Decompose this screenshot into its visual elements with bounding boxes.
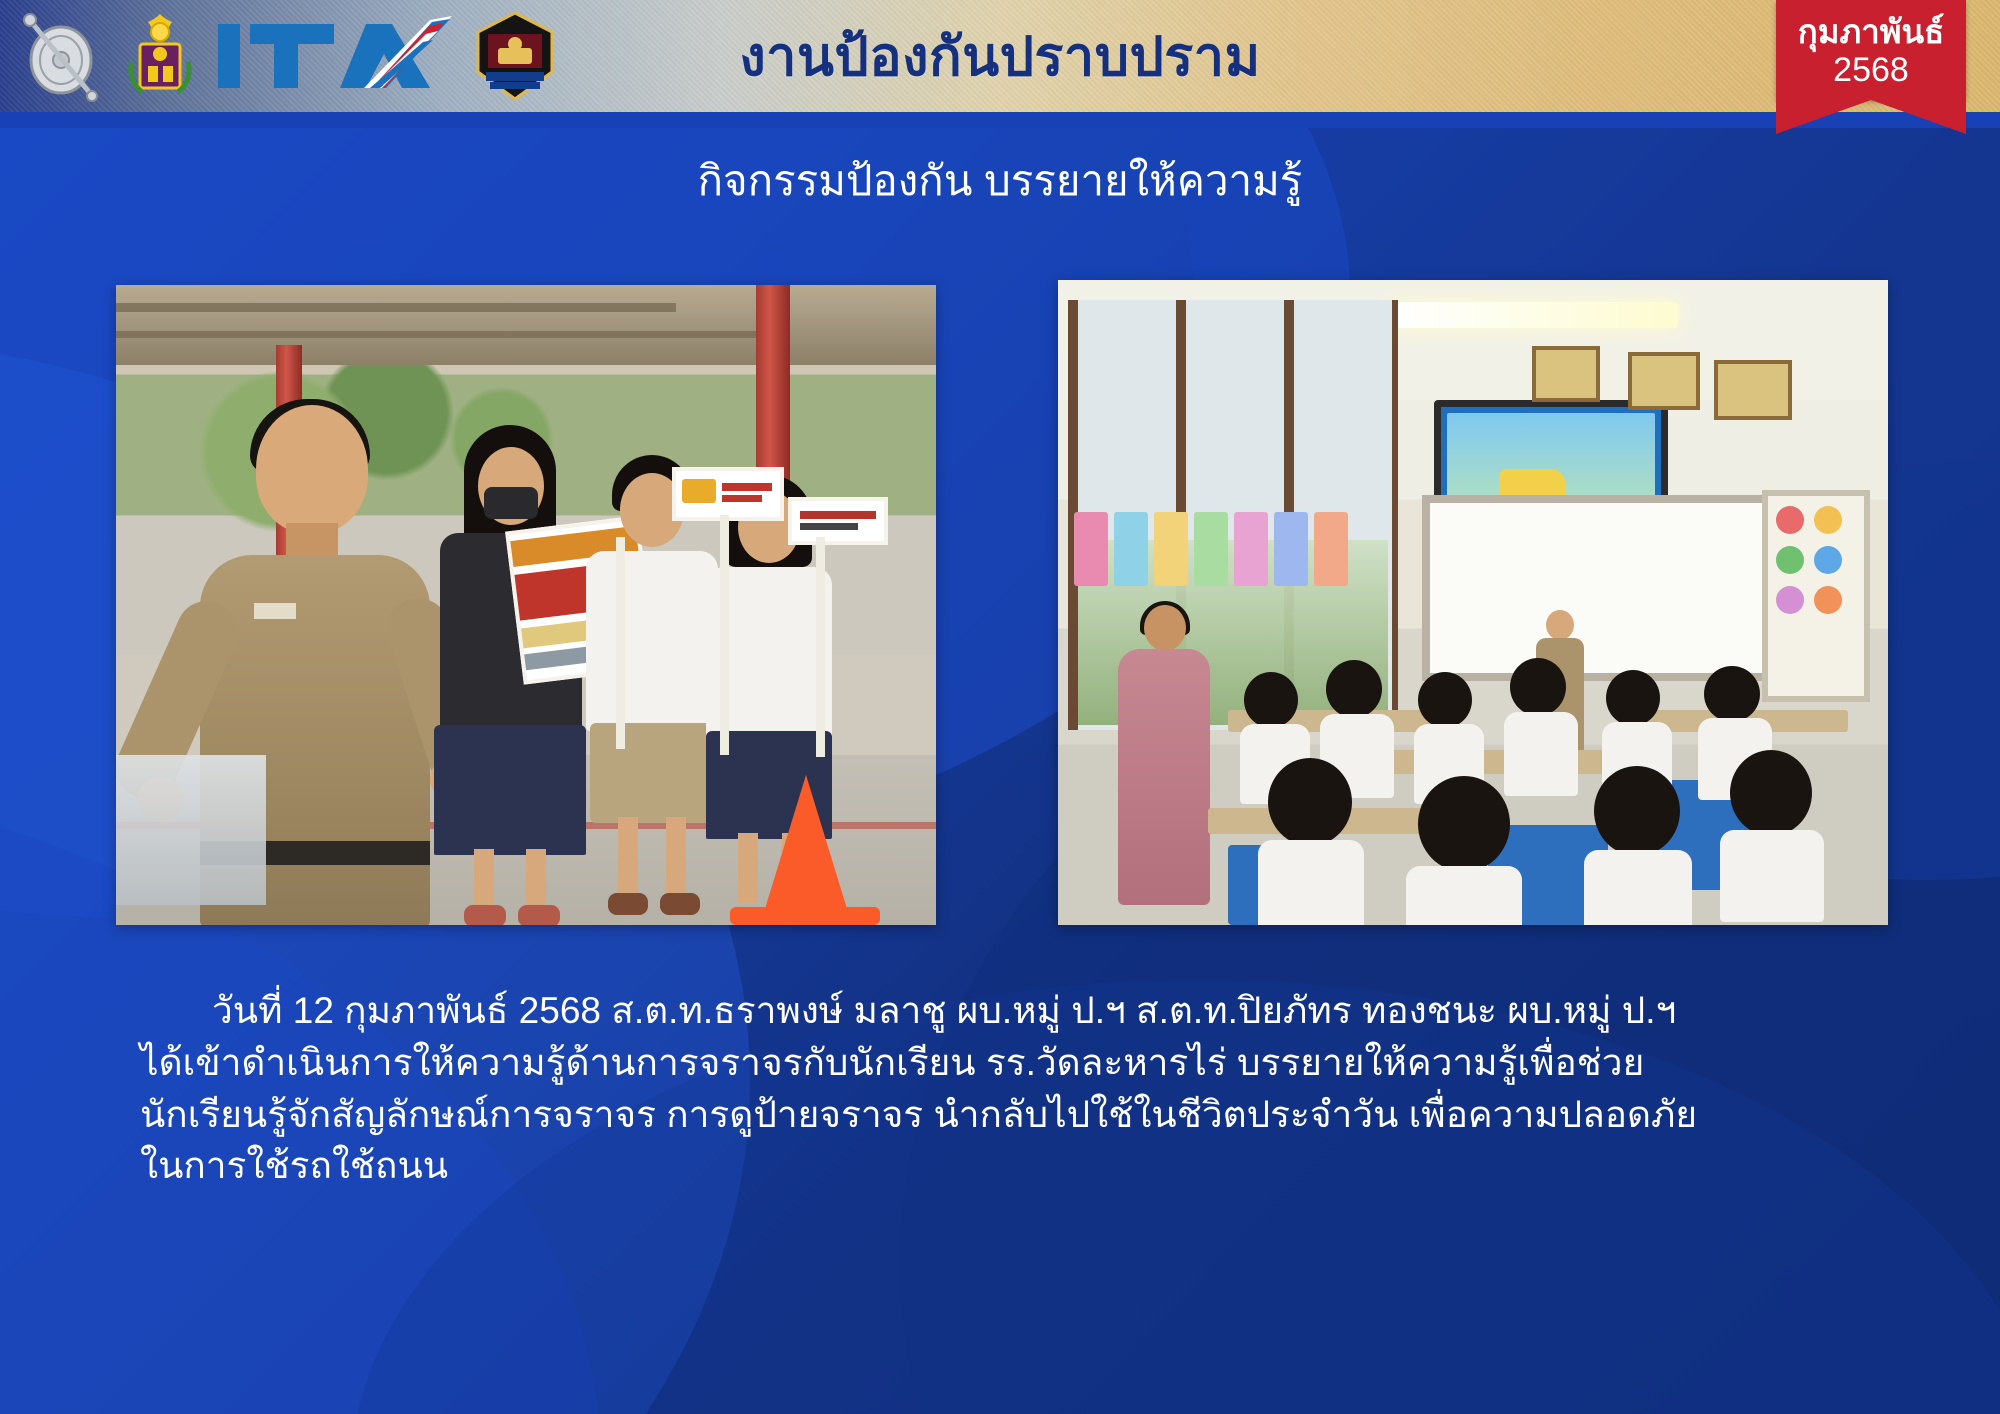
roof-beam-2 [116,331,756,338]
sign-stick-1 [616,537,625,749]
pupil-2-head [1326,660,1382,718]
ribbon-month: กุมภาพันธ์ [1776,14,1966,51]
campaign-sign-3 [788,497,888,545]
pupil-8-head [1418,776,1510,872]
student-2 [586,455,718,925]
student-1-shoe-left [464,905,506,925]
student-2-leg-right [666,817,686,899]
student-1-leg-right [526,849,546,911]
body-line-1-text: วันที่ 12 กุมภาพันธ์ 2568 ส.ต.ท.ธราพงษ์ … [212,990,1676,1031]
number-chart-dot-5 [1776,586,1804,614]
body-line-4: ในการใช้รถใช้ถนน [140,1140,1880,1192]
header-underline [0,112,2000,128]
ita-logo-icon [216,14,456,98]
number-chart-dot-2 [1814,506,1842,534]
standing-woman [1118,605,1210,905]
number-chart-dot-6 [1814,586,1842,614]
number-chart-dot-1 [1776,506,1804,534]
slide-canvas: งานป้องกันปราบปราม กุมภาพันธ์ 2568 กิจกร… [0,0,2000,1414]
traffic-cone [760,775,852,925]
royal-portrait-3 [1532,346,1600,402]
roof [116,285,936,365]
student-1-face-mask [484,487,538,519]
body-paragraph: วันที่ 12 กุมภาพันธ์ 2568 ส.ต.ท.ธราพงษ์ … [140,985,1880,1192]
student-3-leg-left [738,833,758,903]
number-chart-dot-3 [1776,546,1804,574]
sign-2-icon [682,479,716,503]
logo-group [18,4,560,108]
activity-subtitle: กิจกรรมป้องกัน บรรยายให้ความรู้ [0,148,2000,214]
poster-3 [1154,512,1188,586]
pupil-10 [1730,750,1814,916]
poster-4 [1194,512,1228,586]
officer-head [256,405,368,533]
poster-6 [1274,512,1308,586]
pupil-7-body [1258,840,1364,925]
student-1-leg-left [474,849,494,911]
sign-stick-2 [720,515,729,755]
body-line-3: นักเรียนรู้จักสัญลักษณ์การจราจร การดูป้า… [140,1089,1880,1141]
wall-poster-strip [1074,512,1348,586]
pupil-9-head [1594,766,1680,856]
pupil-4-head [1510,658,1566,716]
pupil-4-body [1504,712,1578,796]
ministry-emblem-icon [118,10,202,102]
activity-subtitle-text: กิจกรรมป้องกัน บรรยายให้ความรู้ [698,157,1303,204]
royal-portrait-2 [1628,352,1700,410]
photo-right-scene [1058,280,1888,925]
whiteboard [1422,495,1778,681]
pupil-6-head [1704,666,1760,722]
photo-officer-briefing-students [116,285,936,925]
student-2-leg-left [618,817,638,899]
student-2-shoe-left [608,893,648,915]
pupil-5-head [1606,670,1660,726]
campaign-sign-2 [672,467,784,521]
royal-portrait-1 [1714,360,1792,420]
student-1-skirt [434,725,586,855]
pupil-10-head [1730,750,1812,836]
pupil-10-body [1720,830,1824,922]
pupil-9-body [1584,850,1692,925]
student-1-shoe-right [518,905,560,925]
ribbon-tail [1776,100,1966,134]
pupil-8 [1418,776,1510,925]
stacked-desks [116,755,266,905]
date-ribbon-badge: กุมภาพันธ์ 2568 [1776,0,1966,134]
photo-classroom-lecture [1058,280,1888,925]
sign-3-text-line-2 [800,523,858,530]
sign-2-text-line-2 [722,495,762,502]
sign-3-text-line [800,511,876,519]
pupil-3 [1418,672,1480,792]
woman-dress [1118,649,1210,905]
pupil-7-head [1268,758,1352,846]
number-chart-dot-4 [1814,546,1842,574]
pupil-1-head [1244,672,1298,728]
poster-1 [1074,512,1108,586]
sign-2-text-line [722,483,772,491]
pupil-4 [1510,658,1572,784]
sign-stick-3 [816,537,825,757]
student-2-shorts [590,723,714,823]
police-station-badge-icon [470,10,560,102]
pupil-3-head [1418,672,1472,728]
page-title-text: งานป้องกันปราบปราม [739,13,1260,99]
ribbon-year: 2568 [1776,51,1966,90]
body-line-1: วันที่ 12 กุมภาพันธ์ 2568 ส.ต.ท.ธราพงษ์ … [140,985,1880,1037]
poster-2 [1114,512,1148,586]
student-2-shoe-right [660,893,700,915]
poster-7 [1314,512,1348,586]
roof-beam [116,303,676,312]
number-chart [1762,490,1870,702]
pupil-8-body [1406,866,1522,925]
ceiling-light [1388,302,1678,328]
body-line-2: ได้เข้าดำเนินการให้ความรู้ด้านการจราจรกั… [140,1037,1880,1089]
officer-name-tag [254,603,296,619]
woman-head [1144,605,1186,651]
pupil-7 [1268,758,1354,925]
photo-left-scene [116,285,936,925]
presenter-head [1546,610,1574,640]
student-2-shirt [586,551,718,731]
pupil-9 [1594,766,1682,925]
poster-5 [1234,512,1268,586]
royal-thai-police-emblem-icon [18,10,104,102]
traffic-cone-base [730,907,880,925]
